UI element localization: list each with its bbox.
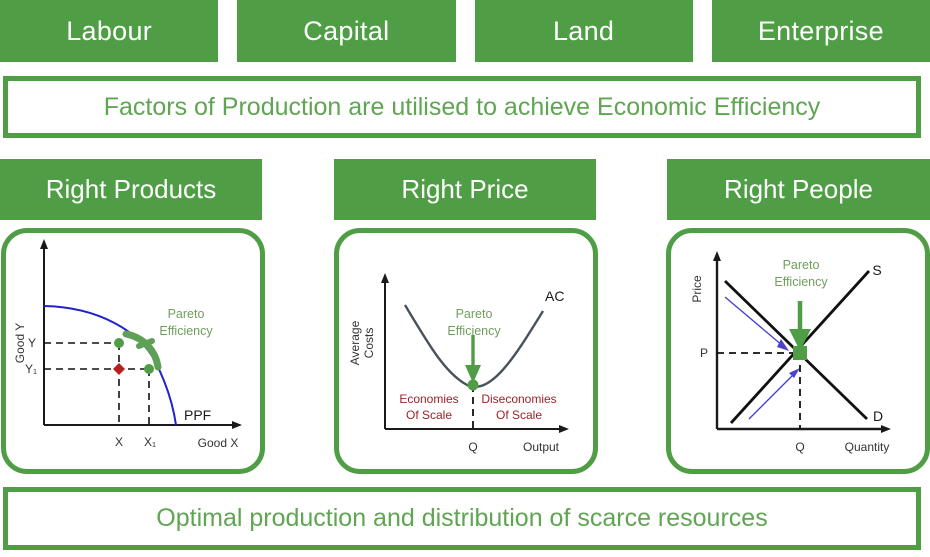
section-header-label: Right Price	[401, 174, 528, 205]
ac-y-axis-label-line1: Average	[348, 320, 362, 365]
sd-x-axis-label: Quantity	[845, 440, 890, 454]
ac-x-tick-Q: Q	[468, 440, 477, 454]
section-header-right-people[interactable]: Right People	[667, 159, 930, 220]
efficiency-banner: Factors of Production are utilised to ac…	[3, 76, 921, 138]
factor-label: Capital	[303, 16, 389, 47]
ac-y-axis-label-line2: Costs	[362, 328, 376, 359]
factor-label: Enterprise	[758, 16, 884, 47]
sd-pareto-label-line2: Efficiency	[774, 275, 828, 289]
diagram-page: Labour Capital Land Enterprise Factors o…	[0, 0, 930, 557]
ppf-pareto-label-line2: Efficiency	[159, 324, 213, 338]
factor-box-capital[interactable]: Capital	[237, 0, 455, 62]
ppf-x-tick-X1: X₁	[144, 435, 156, 449]
sd-point-equilibrium	[793, 346, 807, 360]
section-headers-row: Right Products Right Price Right People	[0, 159, 930, 220]
pareto-arrow-icon	[789, 301, 811, 351]
ppf-point-efficient-lower	[144, 364, 154, 374]
outcome-banner: Optimal production and distribution of s…	[3, 487, 921, 550]
factors-row: Labour Capital Land Enterprise	[0, 0, 930, 62]
ac-region-label-economies-line1: Economies	[399, 392, 458, 406]
ppf-pareto-label-line1: Pareto	[168, 307, 205, 321]
ac-pareto-label-line1: Pareto	[456, 307, 493, 321]
banner-text: Factors of Production are utilised to ac…	[104, 93, 821, 122]
ac-region-label-diseconomies-line1: Diseconomies	[481, 392, 556, 406]
chart-card-average-cost: Average Costs Output Q AC Pareto Efficie…	[334, 228, 598, 474]
ac-region-label-economies-line2: Of Scale	[406, 408, 452, 422]
ppf-y-tick-Y: Y	[28, 336, 36, 350]
ppf-y-tick-Y1: Y₁	[25, 362, 37, 376]
sd-y-tick-P: P	[700, 346, 708, 360]
section-header-label: Right Products	[46, 174, 217, 205]
sd-demand-label: D	[873, 408, 883, 424]
footer-text: Optimal production and distribution of s…	[156, 504, 767, 533]
factor-box-enterprise[interactable]: Enterprise	[712, 0, 930, 62]
ppf-y-axis-label: Good Y	[13, 323, 27, 363]
section-header-right-price[interactable]: Right Price	[334, 159, 596, 220]
pareto-bracket-icon	[126, 334, 158, 367]
ac-x-axis-label: Output	[523, 440, 560, 454]
sd-pareto-label-line1: Pareto	[783, 258, 820, 272]
factor-label: Land	[553, 16, 614, 47]
supply-demand-chart: Price Quantity P Q S D Pareto Efficiency	[671, 233, 925, 469]
chart-card-ppf: Good Y Good X Y Y₁ X X₁ PPF Pareto Effic…	[1, 228, 265, 474]
pareto-arrow-icon	[465, 335, 481, 383]
section-header-right-products[interactable]: Right Products	[0, 159, 262, 220]
ppf-point-efficient-upper	[114, 338, 124, 348]
sd-y-axis-label: Price	[690, 275, 704, 303]
factor-label: Labour	[66, 16, 152, 47]
ac-pareto-label-line2: Efficiency	[447, 324, 501, 338]
ppf-chart: Good Y Good X Y Y₁ X X₁ PPF Pareto Effic…	[6, 233, 260, 469]
factor-box-labour[interactable]: Labour	[0, 0, 218, 62]
ac-point-minimum	[468, 380, 479, 391]
ppf-x-axis-label: Good X	[198, 436, 239, 450]
ppf-x-tick-X: X	[115, 435, 123, 449]
chart-card-supply-demand: Price Quantity P Q S D Pareto Efficiency	[666, 228, 930, 474]
average-cost-chart: Average Costs Output Q AC Pareto Efficie…	[339, 233, 593, 469]
factor-box-land[interactable]: Land	[475, 0, 693, 62]
ac-region-label-diseconomies-line2: Of Scale	[496, 408, 542, 422]
section-header-label: Right People	[724, 174, 873, 205]
sd-supply-label: S	[872, 262, 881, 278]
ppf-point-inefficient	[113, 363, 125, 375]
ppf-curve-label: PPF	[184, 407, 211, 423]
ac-curve-label: AC	[545, 288, 564, 304]
ppf-guide-lines	[44, 343, 149, 425]
sd-x-tick-Q: Q	[795, 440, 804, 454]
